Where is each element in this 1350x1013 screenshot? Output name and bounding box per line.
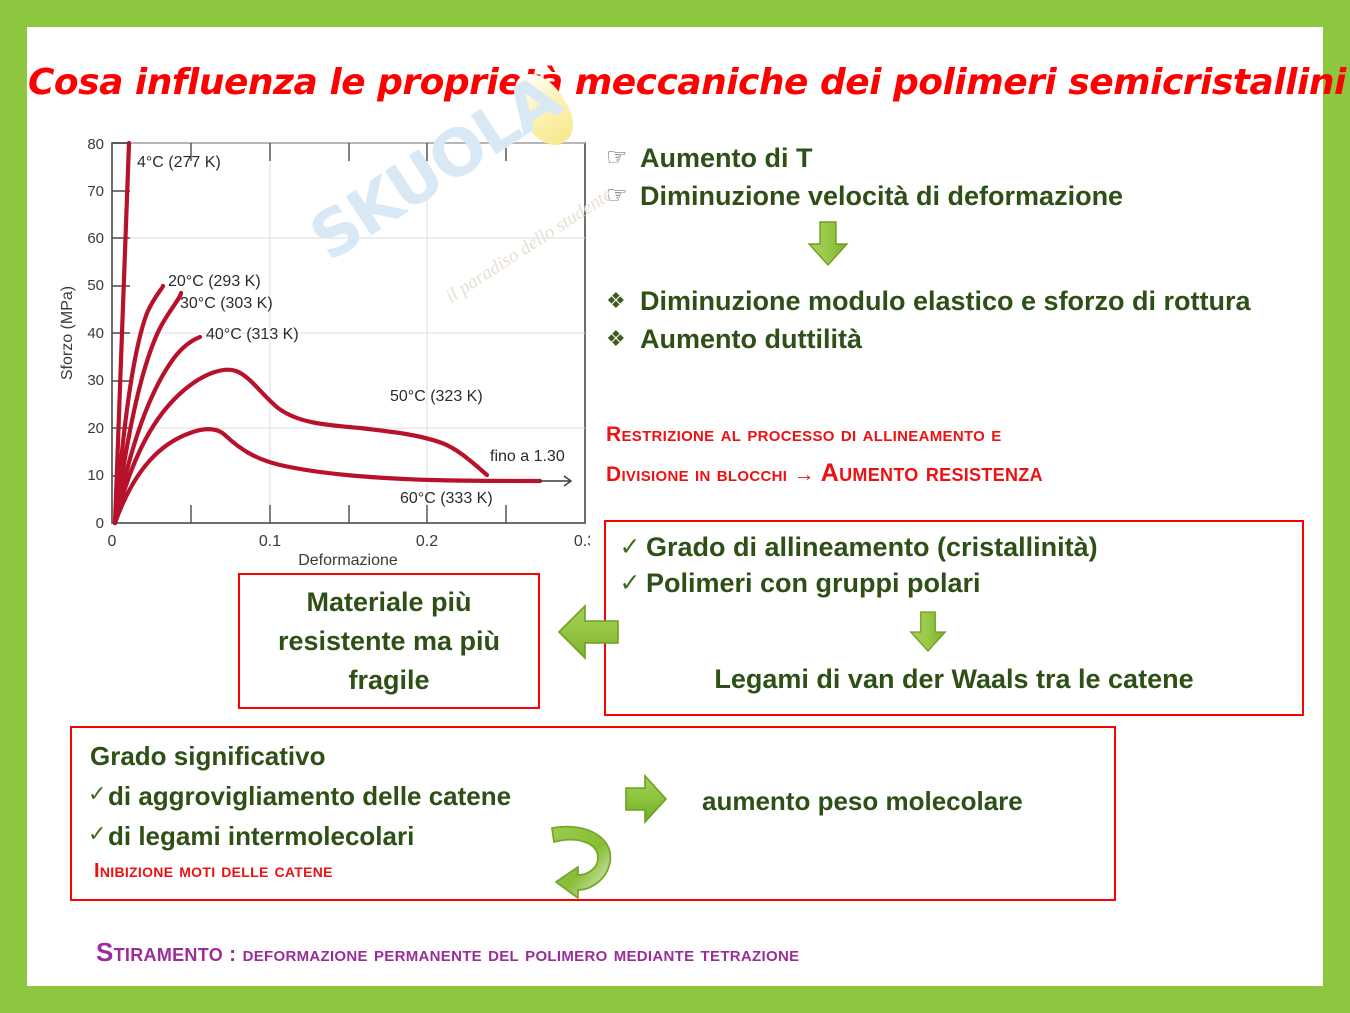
bottom-heading: Grado significativo xyxy=(90,738,1114,774)
svg-text:80: 80 xyxy=(87,136,104,153)
slide-panel: SKUOLA il paradiso dello studente Cosa i… xyxy=(28,28,1322,985)
arrow-down-icon-1 xyxy=(806,220,1296,273)
list-item: ✓ Polimeri con gruppi polari xyxy=(614,566,1302,600)
list-item: ❖ Diminuzione modulo elastico e sforzo d… xyxy=(606,283,1296,319)
brittle-line1: Materiale più xyxy=(240,575,538,622)
checklist-label: Polimeri con gruppi polari xyxy=(646,566,981,600)
bullet-label: Diminuzione velocità di deformazione xyxy=(640,178,1123,214)
arrow-left-icon-wrap xyxy=(556,600,622,669)
list-item: ❖ Aumento duttilità xyxy=(606,321,1296,357)
check-icon: ✓ xyxy=(614,566,646,600)
chart-svg: 80 70 60 50 40 30 20 10 0 xyxy=(50,103,590,568)
footer-separator: : xyxy=(223,943,243,966)
footer-label: Stiramento xyxy=(96,937,223,967)
footer-text: deformazione permanente del polimero med… xyxy=(243,943,800,966)
svg-text:fino a 1.30: fino a 1.30 xyxy=(490,448,565,465)
svg-text:60°C (333 K): 60°C (333 K) xyxy=(400,490,493,507)
list-item: ✓ Grado di allineamento (cristallinità) xyxy=(614,530,1302,564)
checklist-label: di legami intermolecolari xyxy=(108,818,414,854)
footer-note: Stiramento : deformazione permanente del… xyxy=(96,937,1296,968)
arrow-right-icon xyxy=(623,773,669,825)
svg-text:40: 40 xyxy=(87,325,104,342)
svg-text:0.2: 0.2 xyxy=(416,533,438,550)
van-der-waals-box: ✓ Grado di allineamento (cristallinità) … xyxy=(604,520,1304,716)
stress-strain-chart: 80 70 60 50 40 30 20 10 0 xyxy=(50,103,590,568)
svg-text:0.3: 0.3 xyxy=(574,533,590,550)
bullet-label: Diminuzione modulo elastico e sforzo di … xyxy=(640,283,1251,319)
svg-text:30: 30 xyxy=(87,372,104,389)
molecular-weight-result: aumento peso molecolare xyxy=(702,783,1023,819)
check-icon: ✓ xyxy=(88,778,108,812)
brittle-material-box: Materiale più resistente ma più fragile xyxy=(238,573,540,709)
checklist-label: Grado di allineamento (cristallinità) xyxy=(646,530,1098,564)
arrow-down-icon xyxy=(806,220,850,268)
red-statement: Restrizione al processo di allineamento … xyxy=(606,416,1306,494)
svg-text:30°C (303 K): 30°C (303 K) xyxy=(180,295,273,312)
red-statement-line1: Restrizione al processo di allineamento … xyxy=(606,416,1306,454)
svg-text:20: 20 xyxy=(87,420,104,437)
pointing-hand-icon: ☞ xyxy=(606,140,640,176)
list-item: ☞ Diminuzione velocità di deformazione xyxy=(606,178,1296,214)
svg-text:Deformazione: Deformazione xyxy=(298,552,398,568)
bullet-label: Aumento di T xyxy=(640,140,812,176)
svg-text:10: 10 xyxy=(87,467,104,484)
diamond-bullet-icon: ❖ xyxy=(606,321,640,357)
svg-text:70: 70 xyxy=(87,183,104,200)
list-item: ☞ Aumento di T xyxy=(606,140,1296,176)
svg-text:0: 0 xyxy=(96,515,104,532)
svg-text:60: 60 xyxy=(87,230,104,247)
diamond-bullet-icon: ❖ xyxy=(606,283,640,319)
arrow-down-icon xyxy=(908,610,948,654)
arrow-curved-down-icon-wrap xyxy=(540,820,624,905)
vdw-conclusion: Legami di van der Waals tra le catene xyxy=(606,662,1302,696)
checklist-label: di aggrovigliamento delle catene xyxy=(108,778,511,814)
arrow-left-icon xyxy=(556,600,622,664)
right-arrow-glyph: → xyxy=(793,463,814,486)
bullet-label: Aumento duttilità xyxy=(640,321,862,357)
page-title: Cosa influenza le proprietà meccaniche d… xyxy=(28,62,1322,103)
red-statement-line2: Divisione in blocchi → Aumento resistenz… xyxy=(606,454,1306,494)
check-icon: ✓ xyxy=(88,818,108,852)
entanglement-box: Grado significativo ✓ di aggrovigliament… xyxy=(70,726,1116,901)
brittle-line2: resistente ma più xyxy=(240,622,538,661)
svg-text:50: 50 xyxy=(87,277,104,294)
svg-text:50°C (323 K): 50°C (323 K) xyxy=(390,388,483,405)
red-statement-line2-a: Divisione in blocchi xyxy=(606,463,787,486)
check-icon: ✓ xyxy=(614,530,646,564)
svg-text:0: 0 xyxy=(108,533,117,550)
svg-text:40°C (313 K): 40°C (313 K) xyxy=(206,326,299,343)
key-points-list: ☞ Aumento di T ☞ Diminuzione velocità di… xyxy=(606,140,1296,359)
arrow-right-icon-wrap xyxy=(623,773,669,830)
pointing-hand-icon: ☞ xyxy=(606,178,640,214)
svg-text:0.1: 0.1 xyxy=(259,533,281,550)
arrow-down-icon-2 xyxy=(908,610,948,659)
svg-text:4°C (277 K): 4°C (277 K) xyxy=(137,154,221,171)
svg-text:20°C (293 K): 20°C (293 K) xyxy=(168,273,261,290)
brittle-line3: fragile xyxy=(240,661,538,700)
svg-text:Sforzo (MPa): Sforzo (MPa) xyxy=(59,286,76,380)
arrow-curved-down-icon xyxy=(540,820,624,900)
red-statement-line2-b: Aumento resistenza xyxy=(821,459,1043,487)
